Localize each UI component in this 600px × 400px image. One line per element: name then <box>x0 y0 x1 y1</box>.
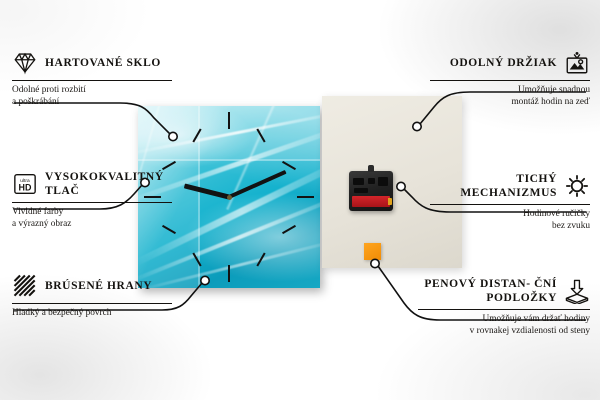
feature-foam-spacers: PENOVÝ DISTAN- ČNÍ PODLOŽKY Umožňuje vám… <box>418 277 590 337</box>
product-foam-spacer-pad <box>364 243 381 260</box>
feature-desc: Hladký a bezpečný povrch <box>12 308 172 320</box>
feature-desc: Umožňuje snadnoumontáž hodin na zeď <box>430 85 590 108</box>
diamond-icon <box>12 50 38 76</box>
picture-hanger-icon <box>564 50 590 76</box>
feature-desc: Hodinové ručičkybez zvuku <box>430 209 590 232</box>
feature-title: ODOLNÝ DRŽIAK <box>450 56 557 70</box>
feature-polished-edges: BRÚSENÉ HRANY Hladký a bezpečný povrch <box>12 273 172 320</box>
feature-desc: Odolné proti rozbitía poškrábání <box>12 85 172 108</box>
infographic-canvas: HARTOVANÉ SKLO Odolné proti rozbitía poš… <box>0 0 600 400</box>
ultra-hd-icon: ultra HD <box>12 171 38 197</box>
feature-silent-mechanism: TICHÝ MECHANIZMUS Hodinové ručičkybez zv… <box>430 172 590 232</box>
feature-tempered-glass: HARTOVANÉ SKLO Odolné proti rozbitía poš… <box>12 50 172 108</box>
feature-title: BRÚSENÉ HRANY <box>45 279 152 293</box>
feature-title: HARTOVANÉ SKLO <box>45 56 161 70</box>
foam-pad-arrow-icon <box>564 278 590 304</box>
gear-icon <box>564 173 590 199</box>
clock-center-hub <box>227 195 232 200</box>
divider <box>430 204 590 205</box>
diagonal-stripes-icon <box>12 273 38 299</box>
feature-desc: Vividné farbya výrazný obraz <box>12 207 172 230</box>
divider <box>418 309 590 310</box>
feature-desc: Umožňuje vám držať hodinyv rovnakej vzdi… <box>418 314 590 337</box>
feature-durable-hanger: ODOLNÝ DRŽIAK Umožňuje snadnoumontáž hod… <box>430 50 590 108</box>
feature-title: TICHÝ MECHANIZMUS <box>430 172 557 200</box>
divider <box>430 80 590 81</box>
feature-hq-print: ultra HD VYSOKOKVALITNÝ TLAČ Vividné far… <box>12 170 172 230</box>
feature-title: VYSOKOKVALITNÝ TLAČ <box>45 170 172 198</box>
product-quartz-mechanism <box>349 171 393 211</box>
feature-title: PENOVÝ DISTAN- ČNÍ PODLOŽKY <box>418 277 557 305</box>
divider <box>12 80 172 81</box>
divider <box>12 202 172 203</box>
mechanism-battery <box>352 196 390 207</box>
svg-text:HD: HD <box>19 183 32 193</box>
divider <box>12 303 172 304</box>
